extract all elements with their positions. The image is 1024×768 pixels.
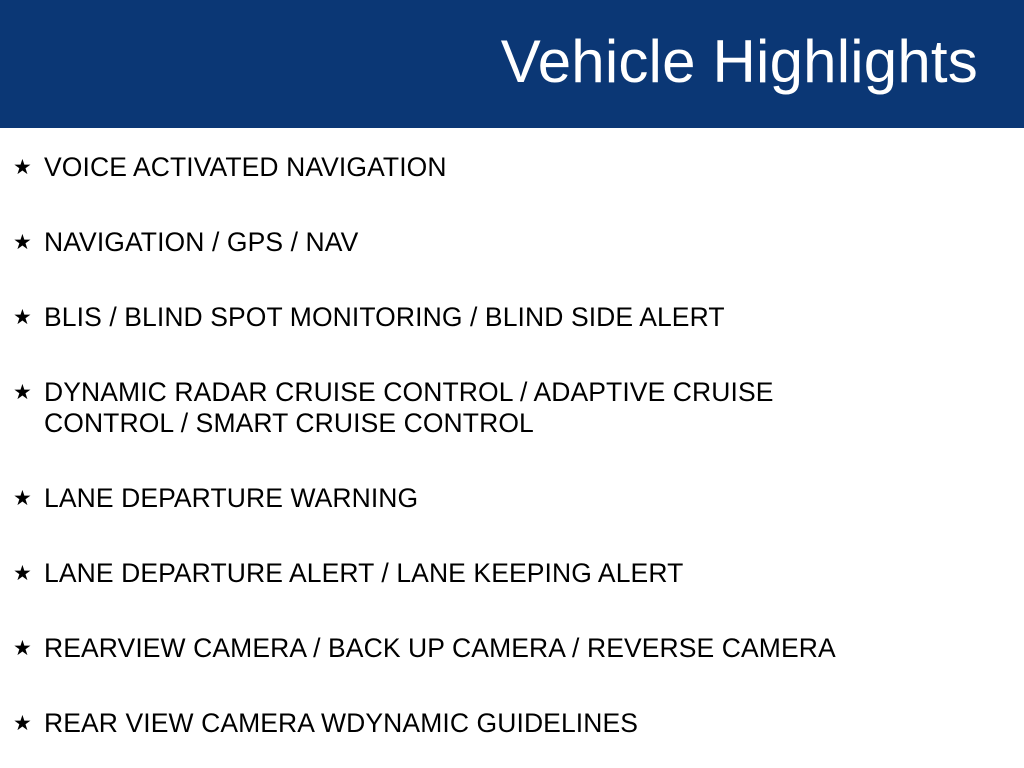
star-bullet-icon: ★	[13, 152, 44, 183]
list-item: ★ DYNAMIC RADAR CRUISE CONTROL / ADAPTIV…	[0, 377, 1024, 439]
list-item-label: BLIS / BLIND SPOT MONITORING / BLIND SID…	[44, 302, 874, 333]
list-item-label: DYNAMIC RADAR CRUISE CONTROL / ADAPTIVE …	[44, 377, 874, 439]
star-bullet-icon: ★	[13, 227, 44, 258]
list-item: ★ REAR VIEW CAMERA WDYNAMIC GUIDELINES	[0, 708, 1024, 739]
list-item-label: LANE DEPARTURE ALERT / LANE KEEPING ALER…	[44, 558, 874, 589]
vehicle-highlights-list: ★ VOICE ACTIVATED NAVIGATION ★ NAVIGATIO…	[0, 128, 1024, 739]
star-bullet-icon: ★	[13, 558, 44, 589]
list-item: ★ BLIS / BLIND SPOT MONITORING / BLIND S…	[0, 302, 1024, 333]
list-item-label: VOICE ACTIVATED NAVIGATION	[44, 152, 874, 183]
list-item-label: NAVIGATION / GPS / NAV	[44, 227, 874, 258]
star-bullet-icon: ★	[13, 708, 44, 739]
page-title: Vehicle Highlights	[501, 32, 978, 92]
star-bullet-icon: ★	[13, 633, 44, 664]
list-item: ★ LANE DEPARTURE WARNING	[0, 483, 1024, 514]
list-item-label: LANE DEPARTURE WARNING	[44, 483, 874, 514]
slide-header-band: Vehicle Highlights	[0, 0, 1024, 128]
list-item: ★ NAVIGATION / GPS / NAV	[0, 227, 1024, 258]
list-item: ★ VOICE ACTIVATED NAVIGATION	[0, 152, 1024, 183]
vehicle-highlights-slide: Vehicle Highlights ★ VOICE ACTIVATED NAV…	[0, 0, 1024, 768]
list-item-label: REAR VIEW CAMERA WDYNAMIC GUIDELINES	[44, 708, 874, 739]
star-bullet-icon: ★	[13, 302, 44, 333]
star-bullet-icon: ★	[13, 483, 44, 514]
list-item: ★ REARVIEW CAMERA / BACK UP CAMERA / REV…	[0, 633, 1024, 664]
list-item: ★ LANE DEPARTURE ALERT / LANE KEEPING AL…	[0, 558, 1024, 589]
list-item-label: REARVIEW CAMERA / BACK UP CAMERA / REVER…	[44, 633, 874, 664]
star-bullet-icon: ★	[13, 377, 44, 408]
